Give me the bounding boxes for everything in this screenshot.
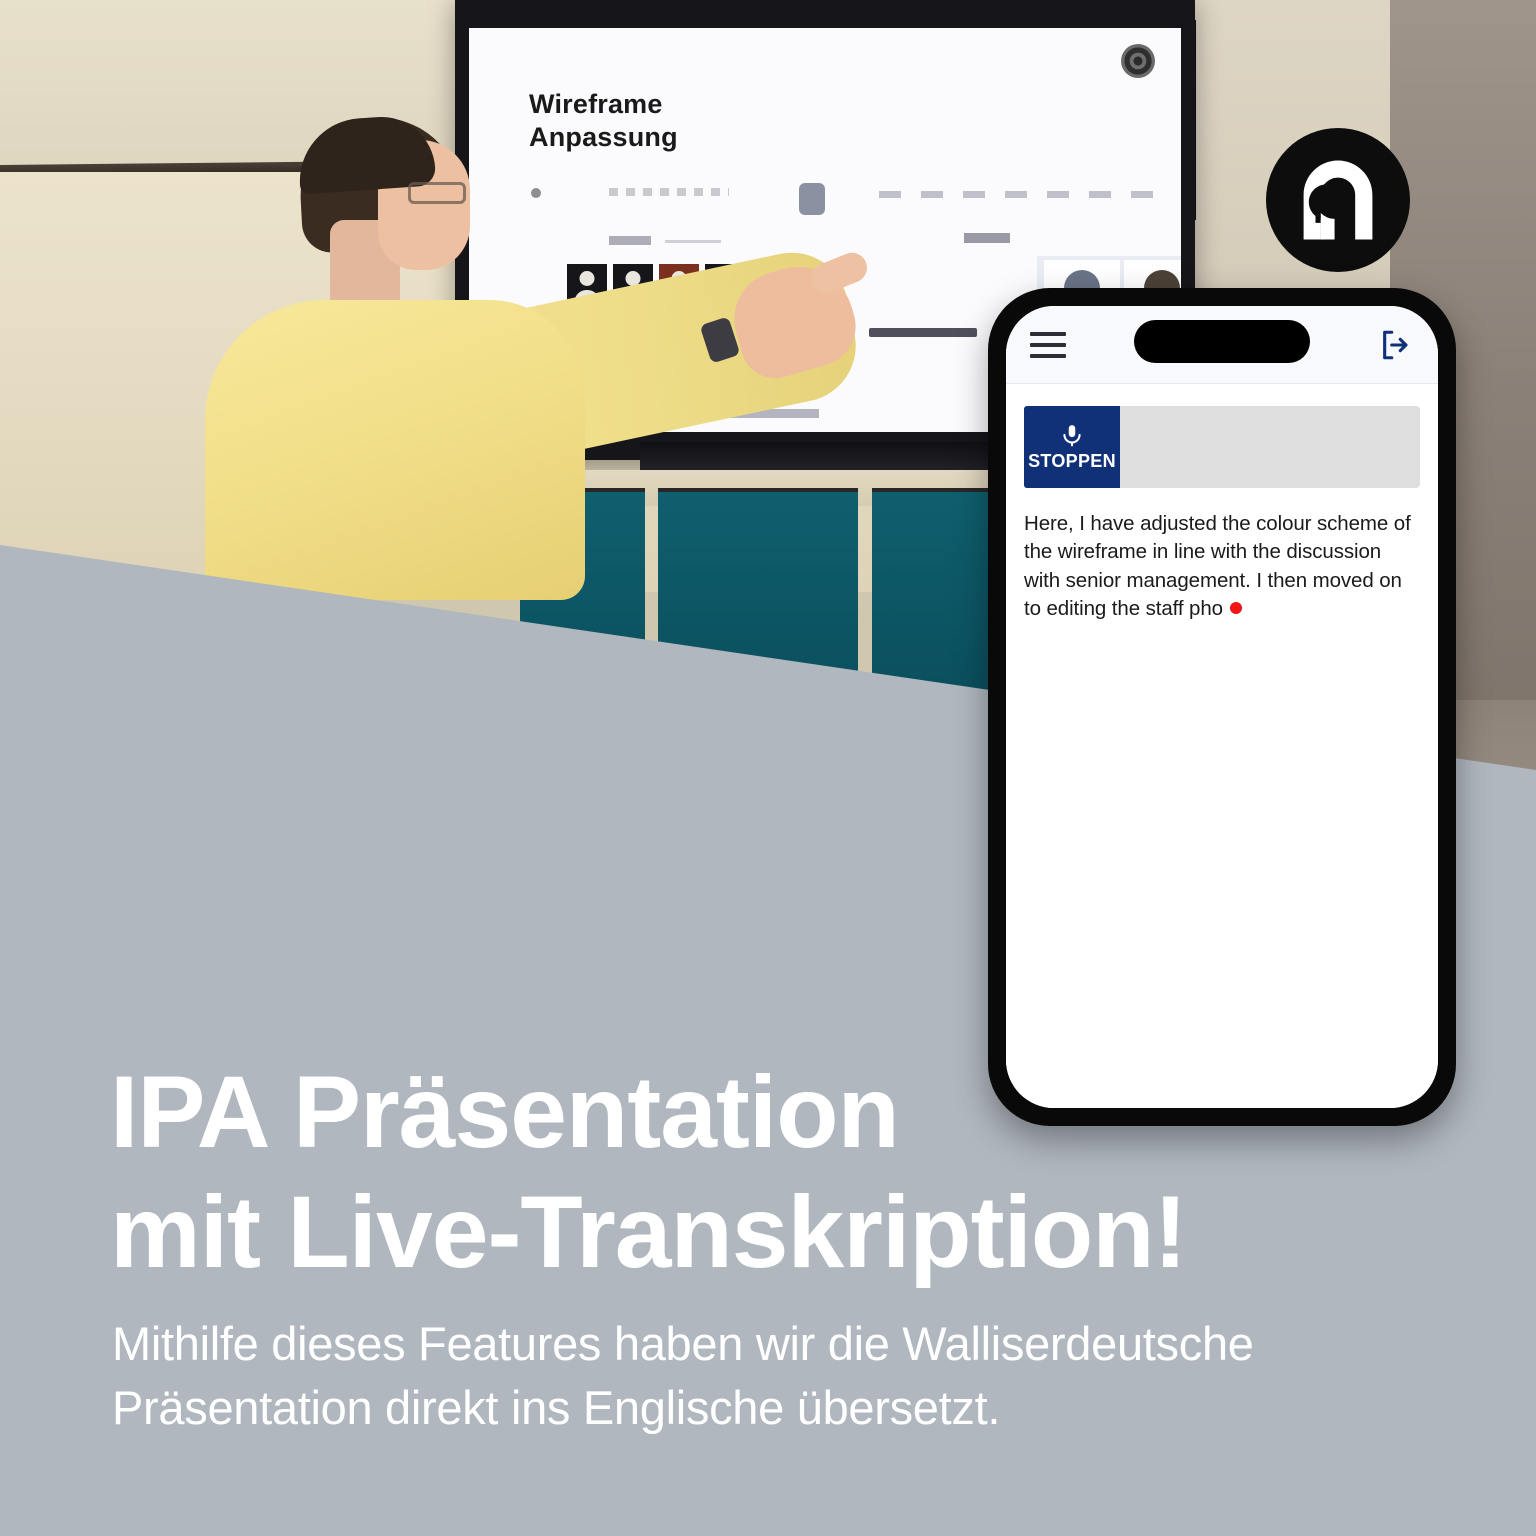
slide-title: Wireframe Anpassung [529,88,769,154]
phone-screen: STOPPEN Here, I have adjusted the colour… [1006,306,1438,1108]
audio-level-bar [1120,406,1420,488]
transcript-text: Here, I have adjusted the colour scheme … [1024,512,1411,620]
logout-icon[interactable] [1378,328,1414,362]
recording-dot [1230,602,1242,614]
slide-avatar [799,183,825,215]
a-logo-badge [1266,128,1410,272]
slide-dash-row [609,188,729,196]
stop-button-label: STOPPEN [1028,451,1116,472]
app-content: STOPPEN Here, I have adjusted the colour… [1006,384,1438,1108]
dynamic-island [1134,320,1310,363]
recorder-row: STOPPEN [1024,406,1420,488]
microphone-icon [1059,423,1085,449]
slide-rule [665,240,721,243]
slide-bullet [531,188,541,198]
slide-label-right [964,233,1010,243]
presenter-glasses [408,182,466,204]
hamburger-menu-icon[interactable] [1030,332,1066,358]
slide-divider [869,328,977,337]
slide-label-left [609,236,651,245]
app-bar [1006,306,1438,384]
poster-canvas: Wireframe Anpassung [0,0,1536,1536]
transcript-area: Here, I have adjusted the colour scheme … [1024,510,1420,623]
phone-mockup: STOPPEN Here, I have adjusted the colour… [988,288,1456,1126]
slide-nav-pills [879,191,1159,198]
a-logo-icon [1295,157,1381,243]
gear-icon [1121,44,1155,78]
presenter-sweater [205,300,585,600]
page-subtitle: Mithilfe dieses Features haben wir die W… [112,1312,1412,1440]
stop-recording-button[interactable]: STOPPEN [1024,406,1120,488]
page-title: IPA Präsentation mit Live-Transkription! [110,1052,1310,1293]
